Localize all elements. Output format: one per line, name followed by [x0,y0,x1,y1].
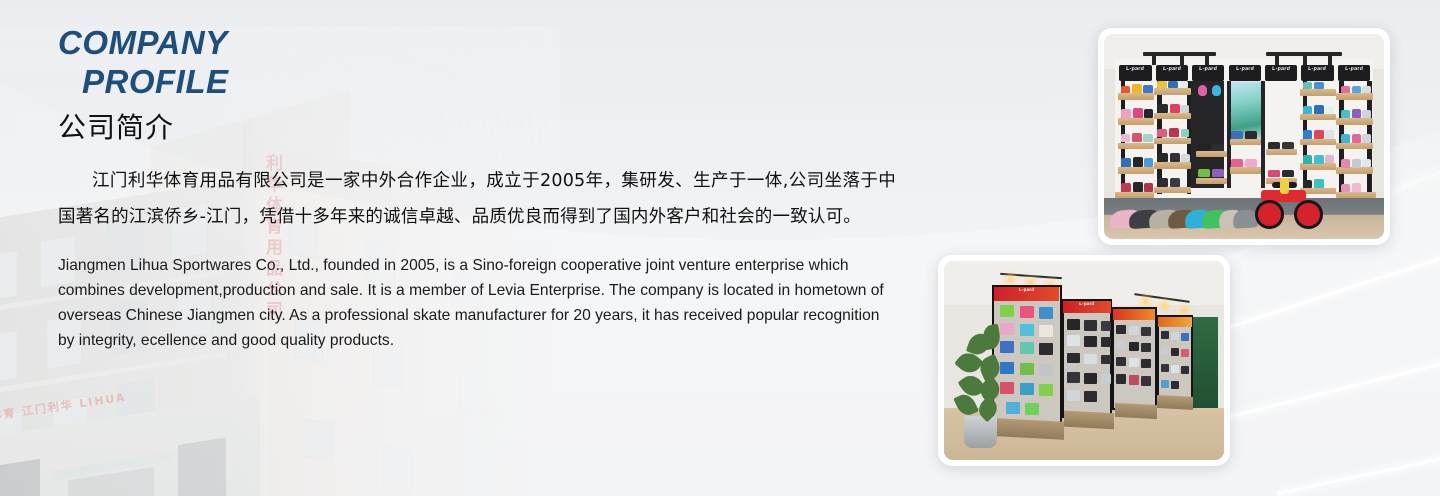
brand-label: L-pard [1228,65,1261,73]
profile-paragraph-english: Jiangmen Lihua Sportwares Co., Ltd., fou… [58,253,890,353]
page-title-line2: PROFILE [58,65,908,99]
brand-label: L-pard [994,287,1058,294]
showroom-photo-wall[interactable]: L-pard L-pard [938,255,1230,466]
brand-label: L-pard [1192,65,1225,73]
showroom-photo-top[interactable]: L-pard L-pard L-pard L-pard L-pard L-par… [1098,28,1390,245]
showroom-photo-wall-image: L-pard L-pard [944,261,1224,460]
profile-text-block: COMPANY PROFILE 公司简介 江门利华体育用品有限公司是一家中外合作… [58,26,908,368]
brand-label: L-pard [1265,65,1298,73]
page-subtitle-chinese: 公司简介 [58,111,908,145]
page-title-line1: COMPANY [58,24,228,61]
showroom-photo-top-image: L-pard L-pard L-pard L-pard L-pard L-par… [1104,34,1384,239]
profile-paragraph-chinese: 江门利华体育用品有限公司是一家中外合作企业，成立于2005年，集研发、生产于一体… [58,163,896,235]
page-title: COMPANY PROFILE [58,26,908,99]
company-profile-banner: 利华体育用品公司 利华体育 江门利华 LIHUA COMPANY PROFILE… [0,0,1440,496]
brand-label: L-pard [1155,65,1188,73]
brand-label: L-pard [1301,65,1334,73]
brand-label: L-pard [1337,65,1370,73]
brand-label: L-pard [1063,301,1111,308]
brand-label: L-pard [1119,65,1152,73]
